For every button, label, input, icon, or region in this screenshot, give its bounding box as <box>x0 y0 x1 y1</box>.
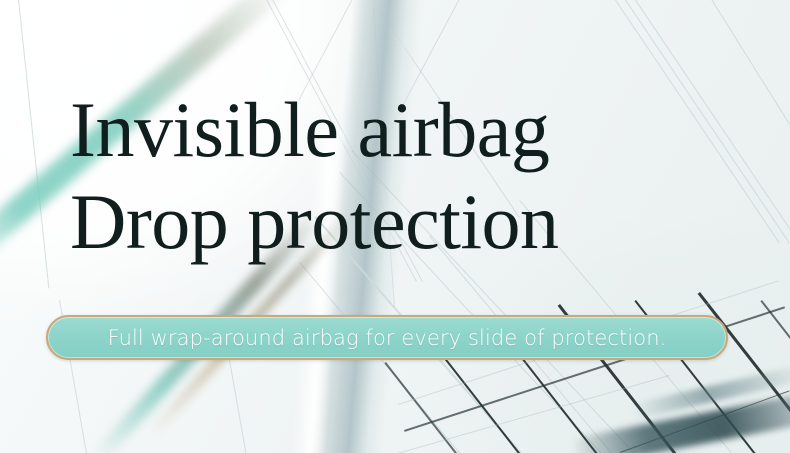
subtitle-pill: Full wrap-around airbag for every slide … <box>46 315 728 360</box>
headline: Invisible airbag Drop protection <box>70 84 750 268</box>
glazing-line <box>229 360 249 453</box>
headline-line-2: Drop protection <box>70 176 750 268</box>
headline-line-1: Invisible airbag <box>70 84 750 176</box>
promo-banner: Invisible airbag Drop protection Full wr… <box>0 0 790 453</box>
subtitle-text: Full wrap-around airbag for every slide … <box>108 326 667 350</box>
